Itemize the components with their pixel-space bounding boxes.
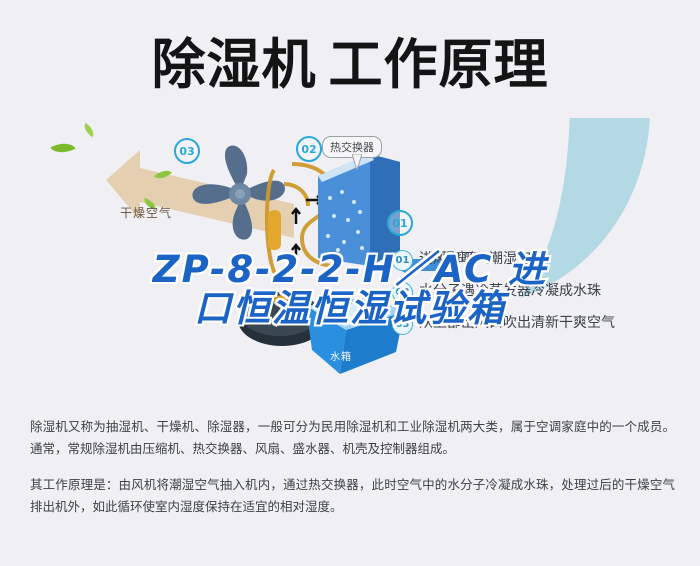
description-block: 除湿机又称为抽湿机、干燥机、除湿器，一般可分为民用除湿机和工业除湿机两大类，属于… [30,416,675,524]
description-paragraph-2: 其工作原理是：由风机将潮湿空气抽入机内，通过热交换器，此时空气中的水分子冷凝成水… [30,474,675,518]
diagram-badge-01: 01 [387,210,413,236]
list-item: 02 水分子遇冷蒸发器冷凝成水珠 [392,282,692,303]
step-text-03: 从上部出风口吹出清新干爽空气 [419,314,615,333]
page-title: 除湿机工作原理 [152,38,549,92]
callout-pointer-icon [352,154,362,170]
page-root: 除湿机工作原理 干燥空气 潮湿空气 [0,0,700,566]
list-item: 01 进风口吸入潮湿空气 [392,250,692,271]
leaf-icon [81,123,97,138]
dry-air-label: 干燥空气 [120,204,172,221]
page-title-part1: 除湿机 [152,33,317,96]
water-tank-label: 水箱 [330,348,352,363]
process-step-list: 01 进风口吸入潮湿空气 02 水分子遇冷蒸发器冷凝成水珠 03 从上部出风口吹… [392,250,692,346]
step-badge-01: 01 [392,250,413,271]
diagram-badge-03: 03 [174,138,200,164]
page-title-part2: 工作原理 [329,33,549,96]
list-item: 03 从上部出风口吹出清新干爽空气 [392,314,692,335]
evaporator-block-graphic [318,154,400,274]
step-badge-02: 02 [392,282,413,303]
diagram-badge-02: 02 [296,136,322,162]
description-paragraph-1: 除湿机又称为抽湿机、干燥机、除湿器，一般可分为民用除湿机和工业除湿机两大类，属于… [30,416,675,460]
step-badge-03: 03 [392,314,413,335]
step-text-02: 水分子遇冷蒸发器冷凝成水珠 [419,282,601,301]
page-header: 除湿机工作原理 [0,20,700,110]
step-text-01: 进风口吸入潮湿空气 [419,250,545,269]
